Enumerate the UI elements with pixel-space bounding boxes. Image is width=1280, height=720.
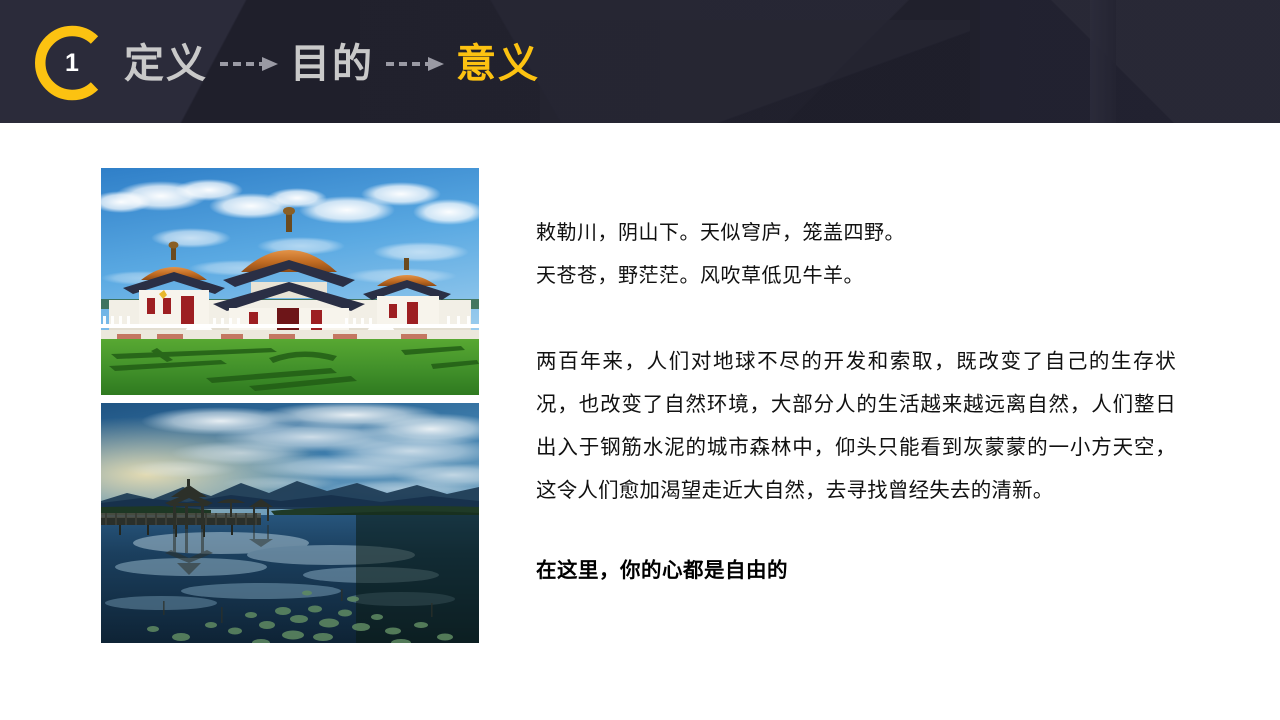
text-column: 敕勒川，阴山下。天似穹庐，笼盖四野。 天苍苍，野茫茫。风吹草低见牛羊。 两百年来… (536, 212, 1196, 586)
section-number-label: 1 (30, 22, 112, 104)
genghis-khan-mausoleum-photo (101, 168, 479, 395)
dashed-arrow-right-icon (218, 55, 280, 78)
header-facet-decoration (980, 0, 1280, 123)
title-word-definition: 定义 (124, 44, 208, 84)
header-title-sequence: 定义 目的 意义 (124, 36, 540, 92)
closing-statement: 在这里，你的心都是自由的 (536, 556, 1196, 586)
slide-header-band: 1 定义 目的 意义 (0, 0, 1280, 123)
poem-line-2: 天苍苍，野茫茫。风吹草低见牛羊。 (536, 255, 1196, 298)
title-word-significance: 意义 (456, 44, 540, 84)
title-word-purpose: 目的 (290, 44, 374, 84)
photo-column (101, 168, 479, 643)
header-facet-decoration (540, 20, 970, 123)
header-facet-decoration (660, 0, 1020, 123)
header-facet-decoration (1090, 0, 1116, 123)
body-paragraph: 两百年来，人们对地球不尽的开发和索取，既改变了自己的生存状况，也改变了自然环境，… (536, 340, 1176, 512)
wetland-lake-photo (101, 403, 479, 643)
dashed-arrow-right-icon (384, 55, 446, 78)
section-number-badge: 1 (30, 22, 112, 104)
poem-line-1: 敕勒川，阴山下。天似穹庐，笼盖四野。 (536, 212, 1196, 255)
